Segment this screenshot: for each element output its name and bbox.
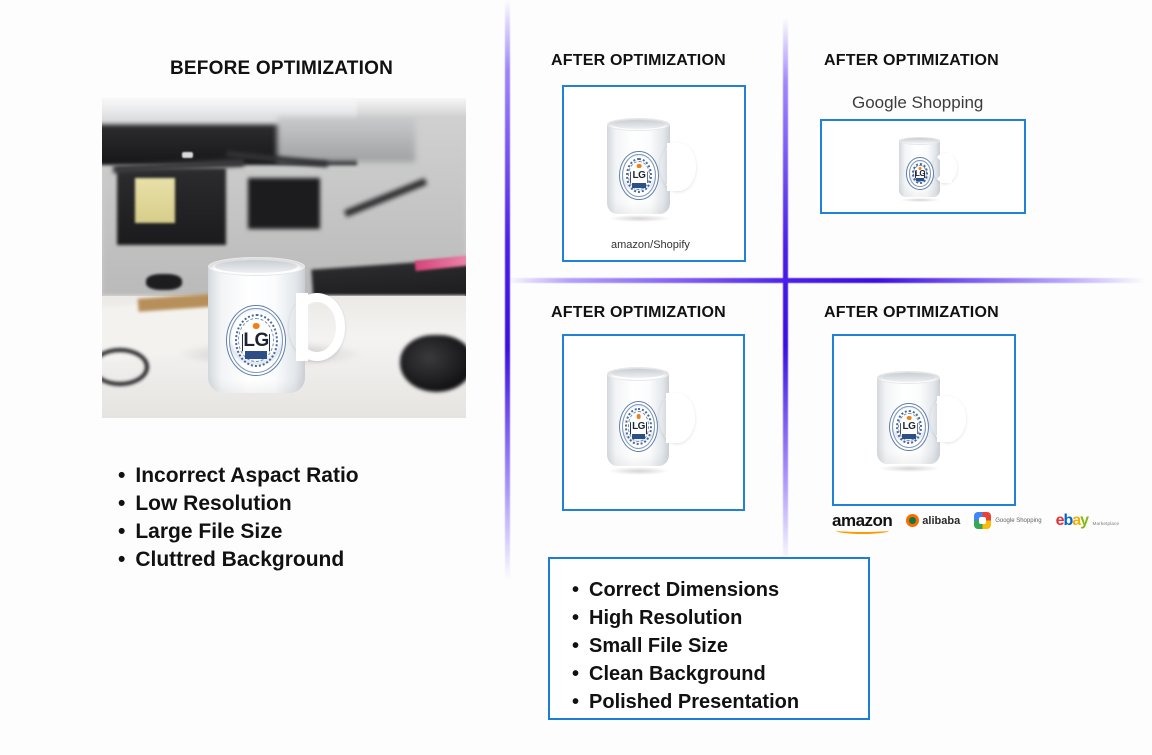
google-shopping-logo: Google Shopping	[974, 512, 1041, 529]
photo-monitor-led	[182, 152, 193, 157]
mug-handle	[660, 143, 696, 191]
amazon-logo: amazon	[832, 512, 892, 529]
alibaba-logo: alibaba	[906, 514, 960, 527]
before-photo: LG	[102, 98, 466, 418]
google-shopping-logo-text: Google Shopping	[995, 518, 1041, 524]
after-mug-1: LG	[607, 116, 708, 220]
photo-mouse	[400, 335, 466, 393]
divider-vertical-right	[783, 18, 788, 563]
divider-horizontal	[505, 278, 1145, 283]
benefits-bullet-list: Correct Dimensions High Resolution Small…	[572, 576, 799, 716]
photo-top-fade	[102, 98, 466, 117]
after-mug-3: LG	[607, 365, 707, 472]
badge-base-bar	[245, 351, 268, 359]
after-heading-2: AFTER OPTIMIZATION	[824, 52, 999, 70]
ebay-logo: ebay Marketplace	[1056, 513, 1120, 529]
after-heading-3: AFTER OPTIMIZATION	[551, 304, 726, 322]
list-item: Cluttred Background	[118, 546, 359, 574]
before-bullet-list: Incorrect Aspact Ratio Low Resolution La…	[118, 462, 359, 574]
mug-handle	[930, 396, 966, 442]
ebay-sub-text: Marketplace	[1093, 521, 1120, 526]
list-item: Correct Dimensions	[572, 576, 799, 604]
ebay-wordmark: ebay	[1056, 512, 1089, 529]
after-panel-2: LG	[820, 119, 1026, 214]
list-item: High Resolution	[572, 604, 799, 632]
mug-drop-shadow	[879, 465, 939, 472]
mug-rim-inner	[882, 373, 934, 382]
mug-logo-badge: LG	[909, 160, 930, 186]
badge-base-bar	[902, 434, 916, 439]
after-panel-1: LG amazon/Shopify	[562, 85, 746, 262]
list-item: Low Resolution	[118, 490, 359, 518]
mug-handle	[659, 393, 695, 442]
google-bag-icon	[974, 512, 991, 529]
mug-logo-badge: LG	[892, 406, 925, 448]
badge-logo-text: LG	[632, 171, 645, 181]
after-mug-2: LG	[899, 136, 966, 202]
badge-logo-text: LG	[632, 422, 645, 432]
after-panel-3: LG	[562, 334, 745, 511]
mug-logo-badge: LG	[622, 154, 655, 198]
badge-sun-icon	[253, 323, 260, 329]
list-item: Large File Size	[118, 518, 359, 546]
badge-sun-icon	[636, 414, 641, 419]
badge-base-bar	[916, 178, 925, 181]
slide-canvas: BEFORE OPTIMIZATION	[0, 0, 1152, 755]
list-item: Small File Size	[572, 632, 799, 660]
ebay-letter-y: y	[1080, 512, 1088, 529]
badge-sun-icon	[637, 164, 642, 169]
badge-base-bar	[632, 434, 646, 439]
after-heading-1: AFTER OPTIMIZATION	[551, 52, 726, 70]
ebay-letter-b: b	[1063, 512, 1072, 529]
divider-vertical-main	[505, 0, 510, 580]
list-item: Clean Background	[572, 660, 799, 688]
badge-logo-text: LG	[915, 170, 925, 178]
mug-handle	[933, 153, 957, 183]
mug-rim-inner	[215, 260, 296, 273]
list-item: Polished Presentation	[572, 688, 799, 716]
before-heading: BEFORE OPTIMIZATION	[170, 58, 393, 80]
photo-second-monitor	[277, 117, 415, 162]
after-panel-1-caption: amazon/Shopify	[611, 239, 690, 251]
badge-logo-text: LG	[243, 331, 268, 350]
mug-logo-badge: LG	[622, 404, 655, 449]
after-panel-2-sublabel: Google Shopping	[852, 93, 983, 113]
mug-handle	[289, 293, 345, 361]
mug-rim-inner	[612, 120, 664, 129]
ebay-letter-a: a	[1072, 512, 1080, 529]
mug-drop-shadow	[900, 198, 940, 203]
mug-drop-shadow	[609, 467, 669, 475]
photo-sticky-note	[135, 178, 175, 223]
before-mug: LG	[208, 255, 365, 402]
marketplace-logo-row: amazon alibaba Google Shopping ebay Mark…	[832, 512, 1119, 529]
after-panel-4: LG	[832, 334, 1016, 506]
list-item: Incorrect Aspact Ratio	[118, 462, 359, 490]
photo-equipment-box	[248, 178, 321, 229]
mug-drop-shadow	[609, 215, 669, 222]
mug-logo-badge: LG	[229, 308, 282, 373]
alibaba-mark-icon	[906, 514, 919, 527]
badge-base-bar	[632, 183, 646, 188]
alibaba-logo-text: alibaba	[922, 515, 960, 527]
badge-logo-text: LG	[902, 422, 915, 432]
after-mug-4: LG	[877, 370, 978, 471]
after-heading-4: AFTER OPTIMIZATION	[824, 304, 999, 322]
photo-clip	[146, 274, 182, 290]
